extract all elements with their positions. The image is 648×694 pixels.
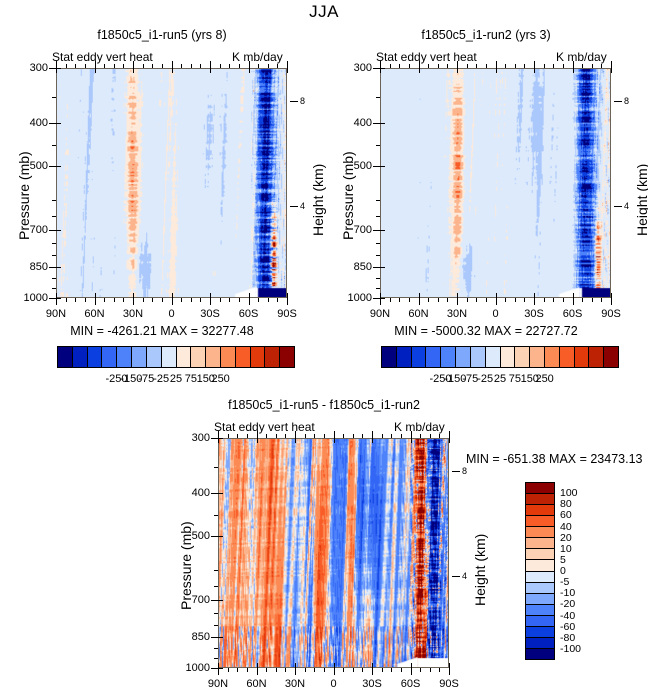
xtick-label: 0 [168,308,174,320]
height-tick-label: 8 [624,96,629,106]
xtick-mark-minor [85,298,86,302]
xtick-mark-minor [162,298,163,302]
xtick-mark-minor [390,298,391,302]
xtick-mark [295,668,296,675]
ytick-mark-minor [214,648,218,649]
xtick-label: 30S [362,678,382,690]
xtick-mark-minor [152,298,153,302]
colorbar-difference-swatch [526,615,554,626]
xtick-mark [380,298,381,305]
colorbar-run2-tick-label: 250 [535,373,553,385]
xtick-mark [419,293,420,298]
xtick-mark [419,61,420,68]
xtick-mark-minor [162,64,163,68]
colorbar-run2-swatch [455,347,470,367]
colorbar-difference-swatch [526,648,554,659]
xtick-mark-minor [191,298,192,302]
height-tick-mark [290,206,298,207]
xtick-mark [573,61,574,68]
ytick-mark-minor [52,97,56,98]
xtick-mark-minor [277,298,278,302]
xtick-mark [419,298,420,305]
xtick-mark-minor [420,434,421,438]
xtick-mark [172,68,173,73]
ytick-label: 300 [338,62,372,74]
xtick-mark-minor [276,668,277,672]
ytick-label: 300 [14,62,48,74]
xtick-mark-minor [401,434,402,438]
colorbar-run2-swatch [574,347,589,367]
xtick-mark [449,663,450,668]
xtick-mark-minor [228,668,229,672]
xtick-mark [218,438,219,443]
xtick-mark [611,293,612,298]
ytick-mark [211,637,218,638]
xtick-mark-minor [515,64,516,68]
colorbar-run5-swatch [146,347,161,367]
ytick-mark [373,123,380,124]
xtick-mark-minor [266,668,267,672]
colorbar-run2-swatch [382,347,396,367]
colorbar-run2-swatch [425,347,440,367]
xtick-mark-minor [266,434,267,438]
colorbar-run5-swatch [116,347,131,367]
colorbar-difference-swatch [526,493,554,504]
xtick-mark-minor [181,64,182,68]
colorbar-run5-swatch [101,347,116,367]
panel-run2-y2axis-title: Height (km) [634,164,648,236]
colorbar-run5-swatch [72,347,87,367]
xtick-mark-minor [114,64,115,68]
ytick-mark [211,600,218,601]
ytick-mark-minor [52,216,56,217]
ytick-mark [49,230,56,231]
xtick-mark [457,68,458,73]
colorbar-run5-swatch [131,347,146,367]
xtick-mark [210,298,211,305]
xtick-mark-minor [486,298,487,302]
xtick-mark [496,61,497,68]
xtick-label: 0 [492,308,498,320]
ytick-mark-inner [56,230,61,231]
xtick-mark-minor [143,64,144,68]
xtick-mark-minor [258,64,259,68]
colorbar-run2-swatch [588,347,603,367]
xtick-mark-minor [285,668,286,672]
xtick-mark-minor [362,434,363,438]
panel-difference-units-label: K mb/day [394,420,445,434]
xtick-mark [133,298,134,305]
xtick-mark-minor [114,298,115,302]
ytick-mark-inner [218,493,223,494]
xtick-mark-minor [314,668,315,672]
xtick-mark [56,293,57,298]
xtick-label: 90S [439,678,459,690]
xtick-mark [334,663,335,668]
colorbar-run2-swatch [411,347,426,367]
xtick-mark [334,431,335,438]
ytick-mark [49,123,56,124]
xtick-mark-minor [247,668,248,672]
xtick-mark-minor [601,64,602,68]
ytick-mark-minor [376,278,380,279]
ytick-mark-inner [380,166,385,167]
panel-run2-units-label: K mb/day [556,50,607,64]
ytick-mark-inner [56,267,61,268]
xtick-label: 90N [46,308,66,320]
colorbar-difference-swatch [526,515,554,526]
xtick-mark [611,61,612,68]
xtick-label: 90N [208,678,228,690]
xtick-mark-minor [447,64,448,68]
xtick-mark-minor [476,64,477,68]
xtick-label: 30N [447,308,467,320]
colorbar-run5-swatch [220,347,235,367]
xtick-mark [372,438,373,443]
xtick-mark-minor [438,64,439,68]
xtick-mark [257,663,258,668]
ytick-mark-minor [52,288,56,289]
xtick-mark [133,293,134,298]
xtick-mark [295,438,296,443]
ytick-label: 400 [338,117,372,129]
xtick-mark-minor [343,668,344,672]
xtick-mark-minor [430,668,431,672]
colorbar-run2-tick-label: 75 [509,373,521,385]
colorbar-run2-swatch [529,347,544,367]
xtick-mark [380,293,381,298]
xtick-mark-minor [285,434,286,438]
xtick-mark-minor [362,668,363,672]
xtick-mark [611,298,612,305]
panel-difference-y2axis-title: Height (km) [472,534,488,606]
xtick-label: 30S [524,308,544,320]
panel-run2-minmax: MIN = -5000.32 MAX = 22727.72 [324,324,648,338]
ytick-label: 700 [176,594,210,606]
colorbar-run2-tick-label: -75 [462,373,478,385]
xtick-mark-minor [229,298,230,302]
colorbar-difference-swatch [526,593,554,604]
xtick-mark-minor [324,668,325,672]
xtick-mark [287,298,288,305]
xtick-mark-minor [430,434,431,438]
xtick-mark [372,663,373,668]
height-axis-line [298,68,299,298]
xtick-mark-minor [563,298,564,302]
colorbar-run5-swatch [161,347,176,367]
xtick-mark [573,293,574,298]
xtick-mark [334,668,335,675]
colorbar-run5-swatch [235,347,250,367]
xtick-mark [257,668,258,675]
xtick-mark-minor [601,298,602,302]
colorbar-run2-swatch [396,347,411,367]
xtick-mark [457,61,458,68]
ytick-label: 850 [176,631,210,643]
xtick-mark-minor [428,64,429,68]
ytick-label: 850 [14,261,48,273]
ytick-label: 400 [176,487,210,499]
height-tick-label: 4 [462,571,467,581]
colorbar-difference-swatch [526,604,554,615]
xtick-mark-minor [229,64,230,68]
xtick-mark-minor [66,64,67,68]
xtick-label: 60S [563,308,583,320]
ytick-mark [373,298,380,299]
colorbar-run5-swatch [205,347,220,367]
panel-run2: f1850c5_i1-run2 (yrs 3) Stat eddy vert h… [324,28,648,348]
colorbar-run2-swatch [559,347,574,367]
colorbar-run2-swatch [470,347,485,367]
page-title: JJA [0,2,648,22]
colorbar-difference-swatch [526,559,554,570]
xtick-label: 90S [277,308,297,320]
xtick-mark-minor [228,434,229,438]
xtick-mark-minor [75,64,76,68]
panel-run5-title: f1850c5_i1-run5 (yrs 8) [0,28,324,42]
colorbar-run5-swatch [190,347,205,367]
xtick-mark [372,431,373,438]
colorbar-run2-swatch [500,347,515,367]
height-tick-mark [452,576,460,577]
height-axis-line [622,68,623,298]
xtick-mark-minor [505,298,506,302]
xtick-mark-minor [324,434,325,438]
xtick-mark-minor [524,298,525,302]
xtick-mark-minor [409,64,410,68]
xtick-mark-minor [305,668,306,672]
xtick-mark-minor [467,64,468,68]
xtick-mark-minor [428,298,429,302]
xtick-mark [210,61,211,68]
xtick-mark-minor [391,434,392,438]
xtick-mark [56,68,57,73]
colorbar-run2-tick-label: -25 [477,373,493,385]
xtick-mark [295,663,296,668]
xtick-mark-minor [399,64,400,68]
xtick-mark [534,68,535,73]
xtick-mark [573,298,574,305]
colorbar-difference [525,482,555,660]
colorbar-difference-swatch [526,571,554,582]
ytick-mark [49,166,56,167]
xtick-mark [411,663,412,668]
ytick-mark-inner [56,166,61,167]
xtick-mark [534,61,535,68]
xtick-mark-minor [143,298,144,302]
xtick-mark-minor [399,298,400,302]
xtick-mark [496,293,497,298]
colorbar-difference-swatch [526,483,554,493]
colorbar-difference-swatch [526,626,554,637]
xtick-mark-minor [268,298,269,302]
colorbar-difference-swatch [526,637,554,648]
xtick-mark-minor [382,434,383,438]
ytick-mark-minor [376,243,380,244]
xtick-mark-minor [343,434,344,438]
xtick-mark [210,68,211,73]
xtick-mark [287,293,288,298]
ytick-mark [373,68,380,69]
xtick-mark-minor [314,434,315,438]
xtick-mark-minor [181,298,182,302]
xtick-mark-minor [152,64,153,68]
xtick-mark [56,61,57,68]
xtick-mark-minor [409,298,410,302]
xtick-mark [249,293,250,298]
xtick-mark-minor [467,298,468,302]
xtick-mark-minor [220,298,221,302]
xtick-mark [287,61,288,68]
ytick-mark [373,166,380,167]
ytick-label: 400 [14,117,48,129]
height-tick-label: 8 [300,96,305,106]
xtick-mark-minor [353,434,354,438]
xtick-mark [380,61,381,68]
colorbar-run2-swatch [514,347,529,367]
xtick-mark-minor [200,64,201,68]
colorbar-run5 [57,346,295,368]
colorbar-run2-swatch [544,347,559,367]
colorbar-run5-tick-label: 75 [185,373,197,385]
panel-difference: f1850c5_i1-run5 - f1850c5_i1-run2 Stat e… [162,398,486,694]
ytick-mark-inner [218,536,223,537]
xtick-mark-minor [85,64,86,68]
xtick-mark-minor [439,434,440,438]
ytick-mark-inner [218,637,223,638]
xtick-mark-minor [258,298,259,302]
ytick-mark-minor [376,200,380,201]
xtick-mark [95,68,96,73]
xtick-mark-minor [239,298,240,302]
xtick-mark-minor [544,298,545,302]
panel-difference-heatmap [219,439,448,667]
xtick-label: 60N [408,308,428,320]
xtick-mark-minor [544,64,545,68]
ytick-mark-inner [380,230,385,231]
xtick-label: 30N [285,678,305,690]
ytick-mark-minor [376,288,380,289]
xtick-mark-minor [563,64,564,68]
ytick-mark-minor [214,467,218,468]
xtick-mark-minor [191,64,192,68]
height-tick-mark [614,101,622,102]
xtick-mark-minor [476,298,477,302]
colorbar-run5-swatch [176,347,191,367]
xtick-mark-minor [447,298,448,302]
xtick-mark-minor [553,64,554,68]
colorbar-run5-swatch [279,347,294,367]
colorbar-run5-tick-label: 250 [211,373,229,385]
xtick-mark [287,68,288,73]
xtick-mark [411,431,412,438]
ytick-mark [211,536,218,537]
panel-run5-heatmap [57,69,286,297]
ytick-label: 500 [176,530,210,542]
panel-run5-minmax: MIN = -4261.21 MAX = 32277.48 [0,324,324,338]
ytick-mark-minor [214,515,218,516]
colorbar-run2 [381,346,619,368]
xtick-mark [210,293,211,298]
xtick-mark [257,431,258,438]
ytick-mark-minor [52,200,56,201]
panel-difference-minmax: MIN = -651.38 MAX = 23473.13 [466,452,646,466]
ytick-mark [211,668,218,669]
xtick-mark-minor [239,64,240,68]
colorbar-run2-swatch [440,347,455,367]
ytick-mark-minor [52,278,56,279]
xtick-mark-minor [420,668,421,672]
panel-run5-plot-area [56,68,287,298]
panel-difference-plot-area [218,438,449,668]
colorbar-run2-swatch [485,347,500,367]
xtick-mark-minor [592,298,593,302]
xtick-mark [218,663,219,668]
xtick-mark [449,431,450,438]
ytick-mark-minor [214,613,218,614]
ytick-mark-minor [214,658,218,659]
xtick-mark-minor [104,64,105,68]
colorbar-run5-tick-label: -25 [153,373,169,385]
xtick-mark-minor [582,64,583,68]
ytick-mark-minor [52,255,56,256]
xtick-mark [534,293,535,298]
xtick-mark [496,68,497,73]
panel-run2-variable-label: Stat eddy vert heat [376,50,477,64]
ytick-label: 1000 [14,292,48,304]
xtick-mark-minor [391,668,392,672]
xtick-mark-minor [277,64,278,68]
xtick-mark-minor [237,668,238,672]
xtick-mark [249,298,250,305]
xtick-mark-minor [268,64,269,68]
xtick-mark-minor [247,434,248,438]
colorbar-run5-swatch [250,347,265,367]
ytick-label: 1000 [338,292,372,304]
colorbar-run2-tick-label: 25 [494,373,506,385]
xtick-mark [218,668,219,675]
xtick-mark [172,293,173,298]
colorbar-difference-swatch [526,537,554,548]
xtick-mark [172,298,173,305]
colorbar-run5-tick-label: -75 [138,373,154,385]
ytick-label: 500 [338,160,372,172]
colorbar-difference-tick-label: -100 [560,643,581,655]
xtick-mark [449,668,450,675]
ytick-mark [49,298,56,299]
colorbar-run5-swatch [87,347,102,367]
height-tick-label: 8 [462,466,467,476]
ytick-mark-minor [376,97,380,98]
xtick-mark [295,431,296,438]
xtick-mark-minor [592,64,593,68]
xtick-mark-minor [382,668,383,672]
panel-run5-units-label: K mb/day [232,50,283,64]
ytick-label: 1000 [176,662,210,674]
ytick-mark-minor [52,145,56,146]
ytick-mark-inner [380,267,385,268]
ytick-mark-minor [214,570,218,571]
ytick-mark-inner [380,123,385,124]
xtick-mark-minor [353,668,354,672]
xtick-label: 90N [370,308,390,320]
xtick-mark-minor [505,64,506,68]
xtick-mark-minor [220,64,221,68]
panel-run5-variable-label: Stat eddy vert heat [52,50,153,64]
colorbar-difference-swatch [526,504,554,515]
colorbar-difference-swatch [526,582,554,593]
ytick-mark-minor [376,145,380,146]
